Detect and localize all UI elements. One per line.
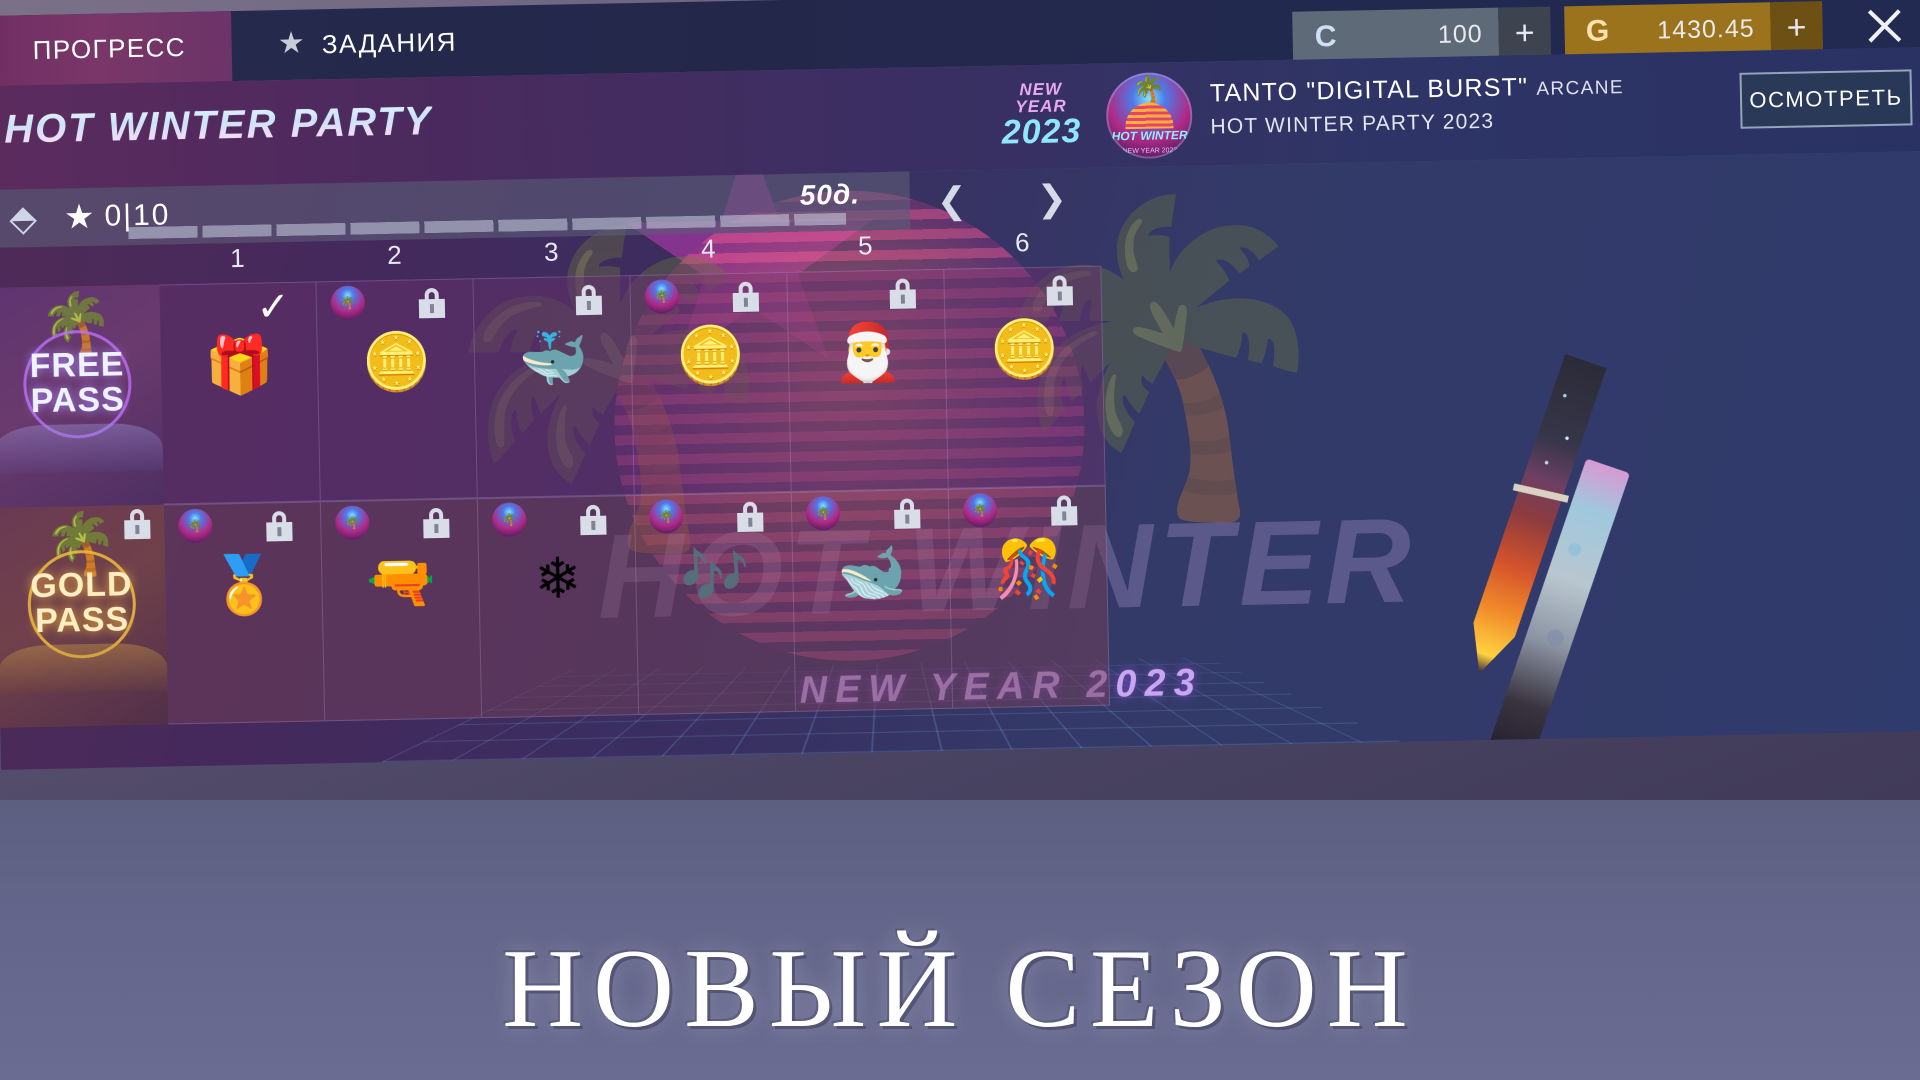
currency-gold-value: 1430.45 — [1657, 14, 1755, 45]
item-collection: HOT WINTER PARTY 2023 — [1210, 110, 1494, 140]
level-number: 4 — [630, 232, 788, 275]
lock-icon — [266, 511, 293, 542]
sticker-letitsnow-icon: 🎊 — [950, 537, 1108, 602]
weapon-skins-icon: 🔫 — [322, 549, 480, 614]
tab-progress-label: ПРОГРЕСС — [32, 31, 186, 65]
pass-sea-decor — [0, 643, 168, 694]
coins-icon: 🪙 — [945, 317, 1103, 382]
reward-cell-gold-2[interactable]: 🌴 🔫 — [321, 498, 482, 721]
reward-grid: 🌴 FREE PASS ✓ 🎁 🌴 — [0, 266, 1110, 728]
reward-cell-gold-6[interactable]: 🌴 🎊 — [949, 486, 1110, 709]
lock-icon — [423, 508, 450, 539]
item-preview — [1333, 325, 1920, 770]
tab-quests-label: ЗАДАНИЯ — [322, 26, 458, 60]
page-title: HOT WINTER PARTY — [4, 99, 433, 153]
coins-icon: 🪙 — [317, 329, 475, 394]
add-gold-button[interactable]: + — [1770, 1, 1823, 54]
stamp-line-1: NEW YEAR — [998, 80, 1085, 116]
coins-icon: 🪙 — [631, 323, 789, 388]
level-number: 2 — [316, 238, 474, 281]
lock-icon — [1051, 495, 1078, 526]
palm-tree-icon: 🌴 — [1105, 76, 1192, 105]
lock-icon — [894, 498, 921, 529]
gold-pass-line2: PASS — [35, 600, 130, 640]
event-logo-subtext: NEW YEAR 2023 — [1107, 147, 1193, 156]
gold-pass-tier-label: 🌴 GOLD PASS — [0, 505, 168, 728]
battlepass-panel: ПРОГРЕСС ★ ЗАДАНИЯ C 100 + G — [0, 0, 1920, 896]
level-number: 3 — [473, 235, 631, 278]
reward-cell-free-1[interactable]: ✓ 🎁 — [159, 281, 320, 504]
prev-page-button[interactable]: ❮ — [927, 176, 976, 225]
reward-cell-gold-5[interactable]: 🌴 🐋 — [792, 489, 953, 712]
reward-cell-gold-4[interactable]: 🌴 🎶 — [635, 492, 796, 715]
reward-cell-free-6[interactable]: 🪙 — [944, 266, 1105, 489]
event-badge-icon: 🌴 — [330, 285, 365, 320]
sticker-pack-icon: 🎅 — [788, 320, 946, 385]
silver-coin-icon: C — [1308, 20, 1343, 55]
new-season-caption: НОВЫЙ СЕЗОН — [0, 925, 1920, 1054]
item-rarity: ARCANE — [1536, 77, 1624, 100]
reward-cell-gold-1[interactable]: 🌴 🏅 — [164, 501, 325, 724]
reward-cell-gold-3[interactable]: 🌴 ❄ — [478, 495, 639, 718]
item-title-text: TANTO "DIGITAL BURST" — [1210, 73, 1529, 107]
free-pass-tier-label: 🌴 FREE PASS — [0, 285, 164, 508]
reward-cell-free-5[interactable]: 🎅 — [787, 269, 948, 492]
sticker-pack-icon: 🐋 — [793, 540, 951, 605]
event-badge-icon: 🌴 — [806, 496, 841, 531]
event-logo-text: HOT WINTER — [1107, 128, 1193, 144]
free-pass-row: 🌴 FREE PASS ✓ 🎁 🌴 — [0, 266, 1106, 508]
tanto-knife-icon — [1389, 338, 1726, 770]
pass-content: 🌴 🌴 HOT WINTER NEW YEAR 2023 ⬘ ★ 0|10 50… — [0, 151, 1920, 770]
tab-bar: ПРОГРЕСС ★ ЗАДАНИЯ — [0, 6, 503, 86]
event-badge-icon: 🌴 — [963, 493, 998, 528]
item-title: TANTO "DIGITAL BURST" ARCANE — [1210, 71, 1625, 108]
level-number: 5 — [786, 229, 944, 272]
gold-pass-row: 🌴 GOLD PASS 🌴 🏅 — [0, 486, 1110, 728]
tab-quests[interactable]: ★ ЗАДАНИЯ — [231, 6, 503, 81]
wood-medal-icon: 🏅 — [165, 552, 323, 617]
sticker-cooldown-icon: ❄ — [479, 546, 637, 611]
lock-icon — [1046, 275, 1073, 306]
event-logo-icon: 🌴 HOT WINTER NEW YEAR 2023 — [1105, 72, 1193, 160]
currency-silver-value: 100 — [1438, 19, 1483, 49]
sticker-pack-icon: 🐳 — [474, 326, 632, 391]
game-screen: ПРОГРЕСС ★ ЗАДАНИЯ C 100 + G — [0, 0, 1920, 1080]
days-remaining: 50д. — [799, 178, 860, 211]
reward-cell-free-2[interactable]: 🌴 🪙 — [316, 278, 477, 501]
close-icon — [1864, 6, 1905, 47]
gold-pass-text: GOLD PASS — [0, 567, 166, 640]
event-badge-icon: 🌴 — [335, 505, 370, 540]
event-badge-icon: 🌴 — [644, 279, 679, 314]
level-number: 6 — [943, 226, 1101, 269]
pass-sea-decor — [0, 423, 163, 474]
inspect-button[interactable]: ОСМОТРЕТЬ — [1739, 69, 1912, 128]
sticker-letitsnow-icon: 🎶 — [636, 543, 794, 608]
free-pass-line1: FREE — [29, 345, 124, 385]
level-number: 1 — [159, 241, 317, 284]
tab-progress[interactable]: ПРОГРЕСС — [0, 11, 233, 86]
lock-icon — [732, 282, 759, 313]
lock-icon — [889, 278, 916, 309]
reward-cell-free-4[interactable]: 🌴 🪙 — [630, 272, 791, 495]
stamp-line-2: 2023 — [998, 114, 1085, 150]
next-page-button[interactable]: ❯ — [1027, 174, 1076, 223]
event-badge-icon: 🌴 — [649, 499, 684, 534]
sunset-icon — [1125, 102, 1174, 129]
star-icon: ★ — [278, 30, 309, 61]
new-year-stamp: NEW YEAR 2023 — [998, 80, 1085, 150]
lock-icon — [580, 505, 607, 536]
free-pass-line2: PASS — [30, 380, 125, 420]
crate-icon: 🎁 — [160, 332, 318, 397]
add-silver-button[interactable]: + — [1498, 7, 1551, 60]
checkmark-icon: ✓ — [256, 287, 290, 328]
close-button[interactable] — [1856, 0, 1913, 54]
event-badge-icon: 🌴 — [492, 502, 527, 537]
event-badge-icon: 🌴 — [178, 509, 213, 544]
lock-icon — [576, 285, 603, 316]
rank-arrow-icon: ⬘ — [0, 189, 57, 248]
free-pass-text: FREE PASS — [0, 347, 162, 420]
progress-star-icon: ★ — [64, 197, 95, 238]
reward-cell-free-3[interactable]: 🐳 — [473, 275, 634, 498]
gold-coin-icon: G — [1580, 14, 1615, 49]
lock-icon — [737, 502, 764, 533]
lock-icon — [419, 288, 446, 319]
lock-icon — [124, 509, 151, 540]
